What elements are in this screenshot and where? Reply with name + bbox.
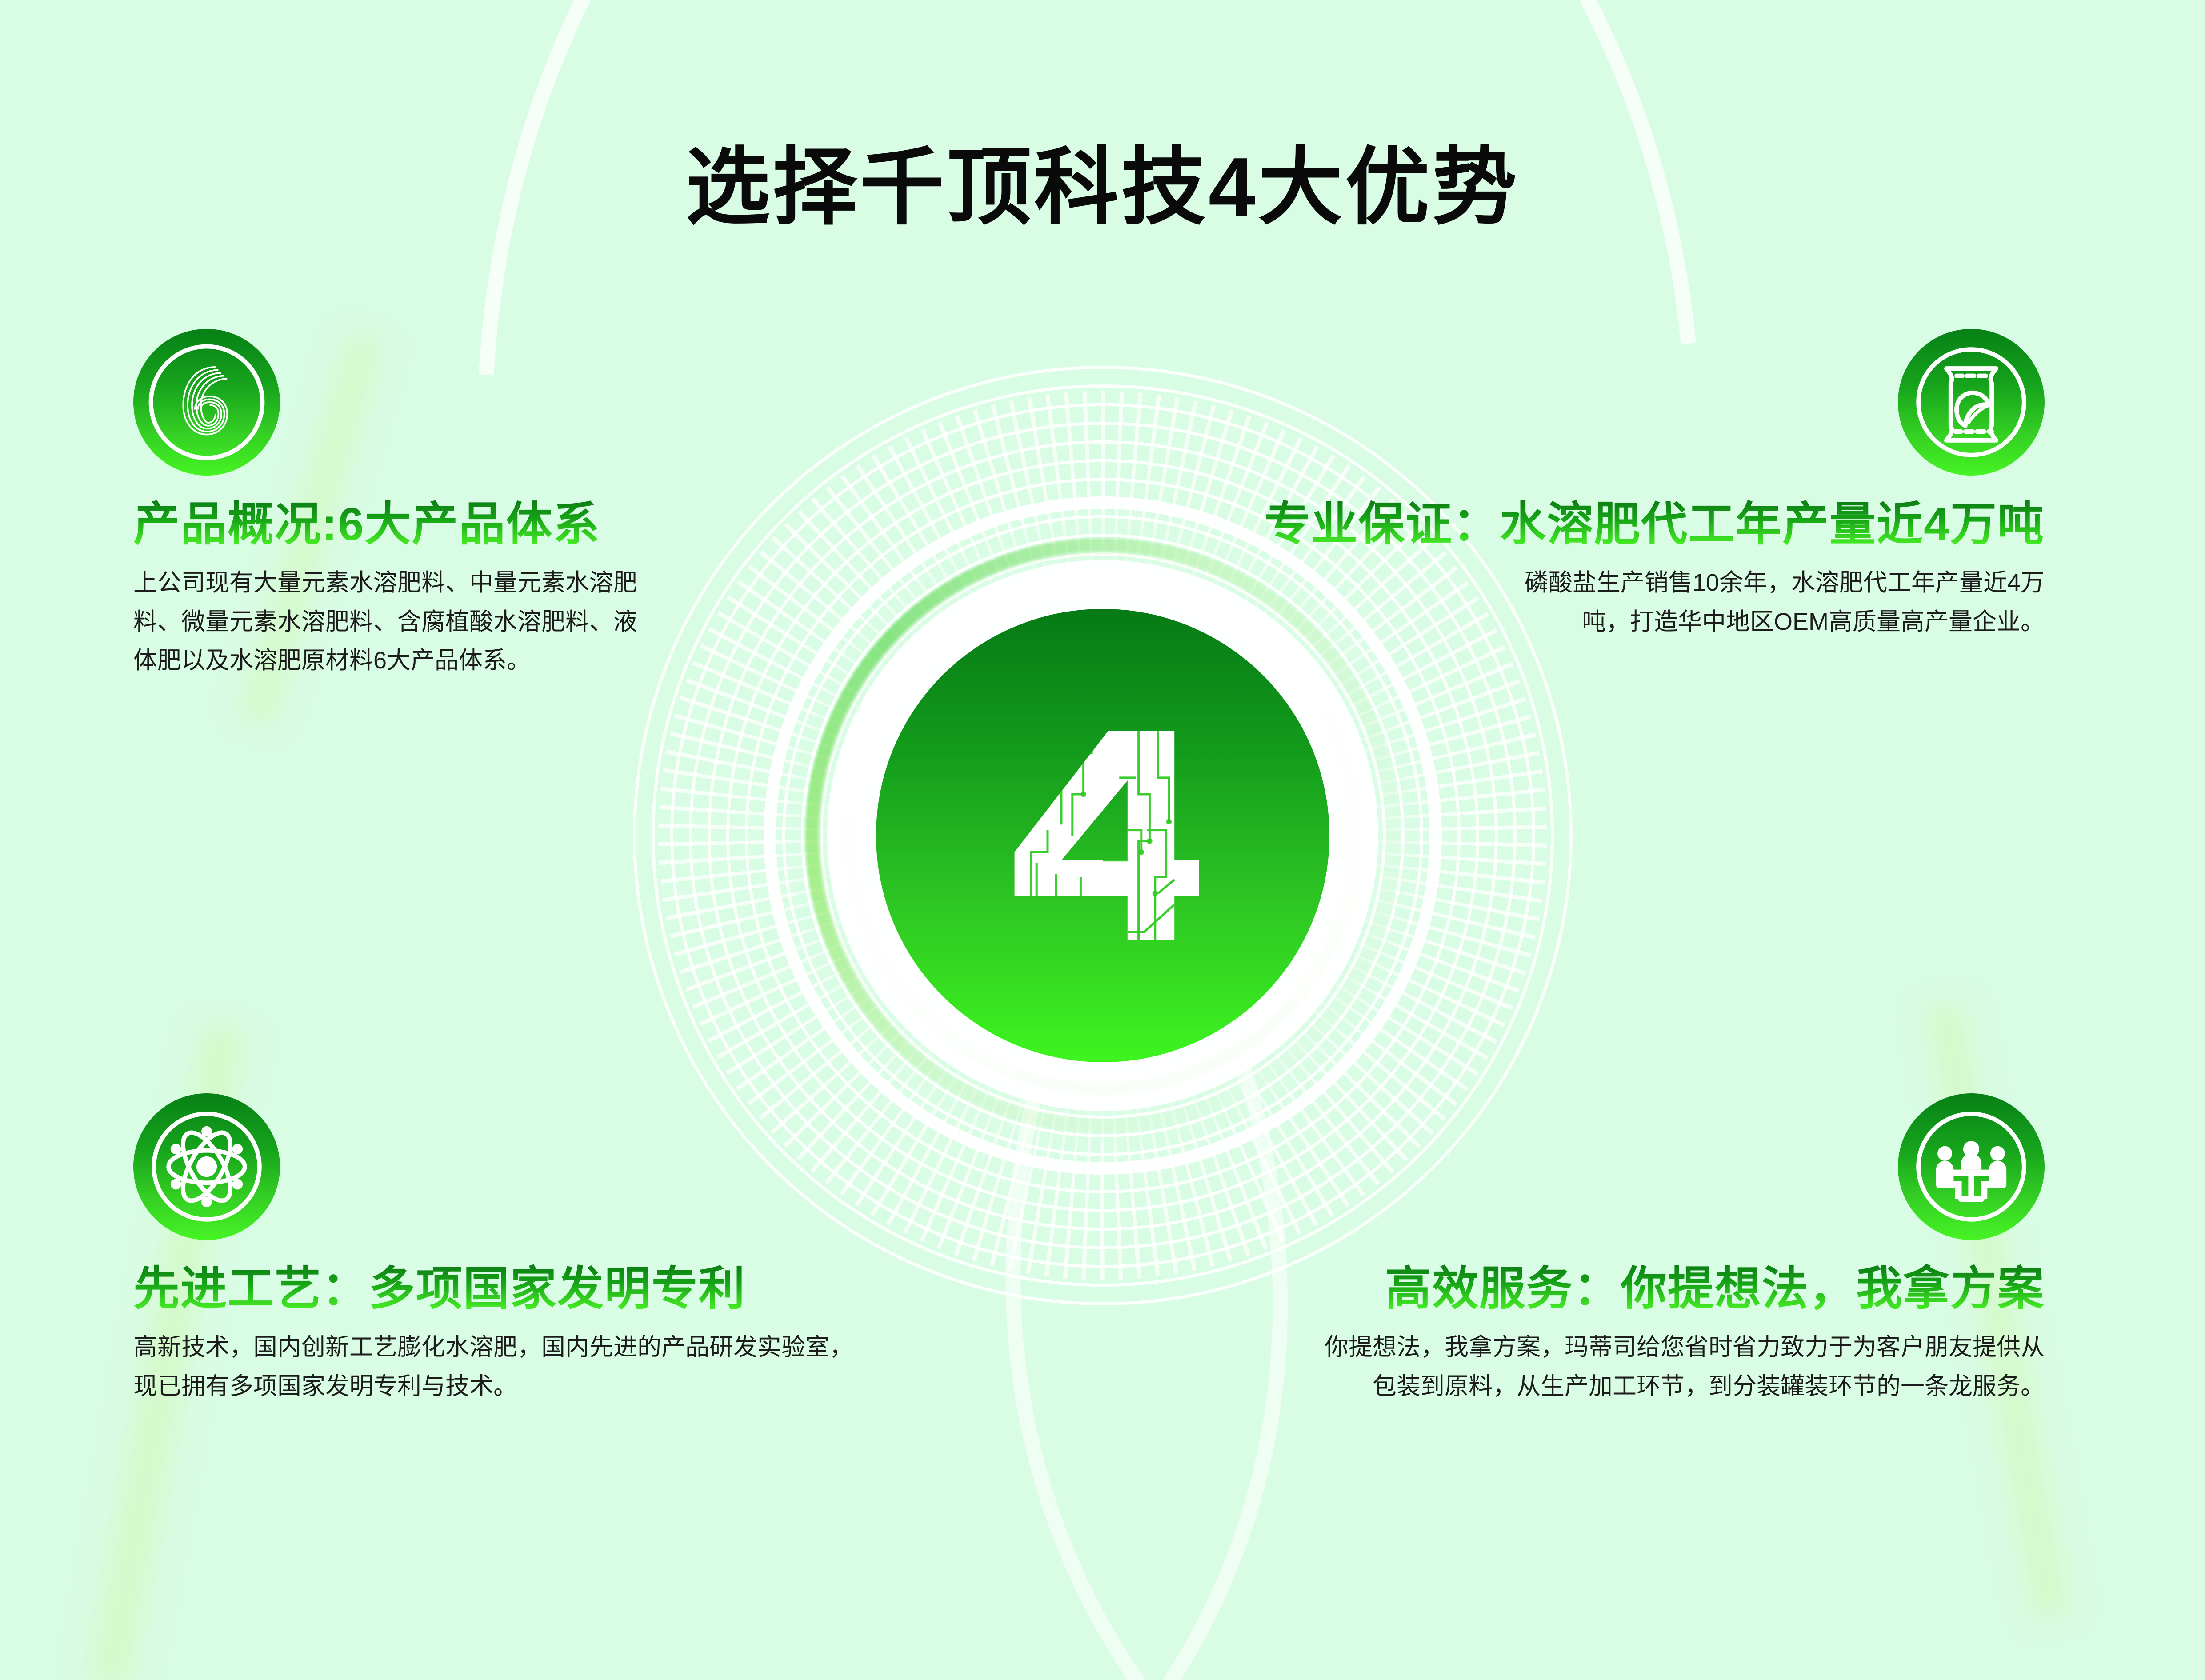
- fertilizer-bag-glyph: [1898, 329, 2045, 476]
- card-body: 上公司现有大量元素水溶肥料、中量元素水溶肥料、微量元素水溶肥料、含腐植酸水溶肥料…: [133, 564, 658, 680]
- advantage-card-bottom-left: 先进工艺：多项国家发明专利 高新技术，国内创新工艺膨化水溶肥，国内先进的产品研发…: [133, 1093, 889, 1406]
- card-body: 你提想法，我拿方案，玛蒂司给您省时省力致力于为客户朋友提供从包装到原料，从生产加…: [1316, 1328, 2045, 1406]
- card-title: 专业保证：水溶肥代工年产量近4万吨: [1182, 499, 2045, 550]
- fertilizer-bag-icon: [1898, 329, 2045, 476]
- card-body: 高新技术，国内创新工艺膨化水溶肥，国内先进的产品研发实验室，现已拥有多项国家发明…: [133, 1328, 862, 1406]
- card-title: 先进工艺：多项国家发明专利: [133, 1263, 889, 1315]
- advantage-card-top-left: 产品概况:6大产品体系 上公司现有大量元素水溶肥料、中量元素水溶肥料、微量元素水…: [133, 329, 764, 680]
- meeting-people-icon: [1898, 1093, 2045, 1240]
- card-title: 产品概况:6大产品体系: [133, 499, 764, 550]
- number-four-tech-icon: [965, 698, 1241, 973]
- advantage-card-bottom-right: 高效服务：你提想法，我拿方案 你提想法，我拿方案，玛蒂司给您省时省力致力于为客户…: [1289, 1093, 2045, 1406]
- green-disc: [876, 609, 1329, 1062]
- advantage-card-top-right: 专业保证：水溶肥代工年产量近4万吨 磷酸盐生产销售10余年，水溶肥代工年产量近4…: [1182, 329, 2045, 641]
- atom-glyph: [133, 1093, 280, 1240]
- meeting-people-glyph: [1898, 1093, 2045, 1240]
- page-title: 选择千顶科技4大优势: [0, 145, 2205, 230]
- card-body: 磷酸盐生产销售10余年，水溶肥代工年产量近4万吨，打造华中地区OEM高质量高产量…: [1498, 564, 2045, 641]
- card-title: 高效服务：你提想法，我拿方案: [1289, 1263, 2045, 1315]
- six-rings-glyph: [133, 329, 280, 476]
- number-six-rings-icon: [133, 329, 280, 476]
- atom-icon: [133, 1093, 280, 1240]
